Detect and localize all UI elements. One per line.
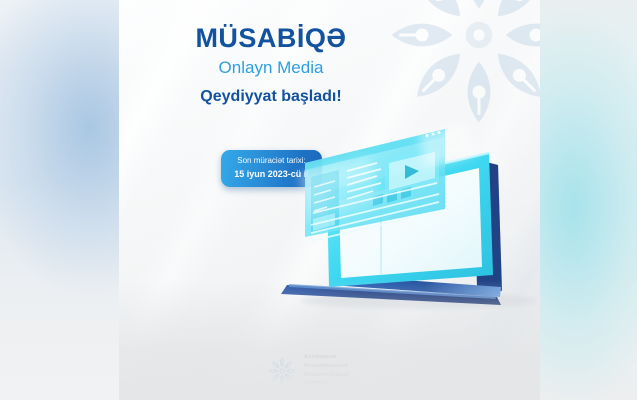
- card-bottom-shade: [119, 280, 540, 400]
- page-title: MÜSABİQƏ: [166, 24, 376, 52]
- registration-status-text: Qeydiyyat başladı!: [166, 87, 376, 106]
- poster-canvas: MÜSABİQƏ Onlayn Media Qeydiyyat başladı!…: [0, 0, 637, 400]
- page-subtitle: Onlayn Media: [166, 58, 376, 78]
- right-gradient-band: [540, 0, 637, 400]
- poster-card: MÜSABİQƏ Onlayn Media Qeydiyyat başladı!…: [119, 0, 540, 400]
- headline-block: MÜSABİQƏ Onlayn Media Qeydiyyat başladı!: [166, 24, 376, 106]
- left-gradient-band: [0, 0, 119, 400]
- emblem-watermark-icon: [384, 0, 540, 130]
